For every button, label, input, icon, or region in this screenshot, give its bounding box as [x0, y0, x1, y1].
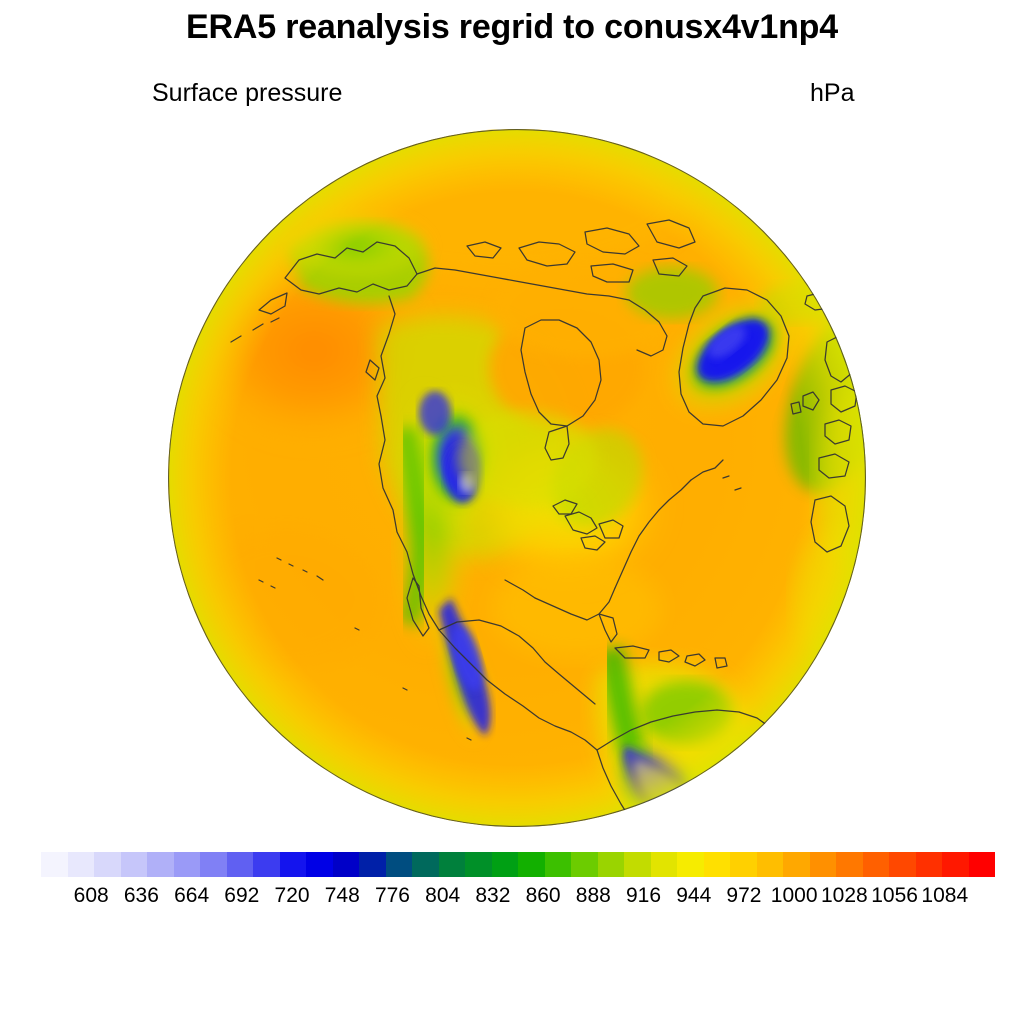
colorbar-segment: [174, 852, 201, 877]
colorbar-tick-label: 636: [124, 884, 159, 908]
colorbar-tick-label: 944: [676, 884, 711, 908]
colorbar-segment: [624, 852, 651, 877]
colorbar-segment: [836, 852, 863, 877]
colorbar-segment: [518, 852, 545, 877]
colorbar[interactable]: [41, 852, 995, 877]
colorbar-segment: [571, 852, 598, 877]
globe-map: [167, 128, 867, 828]
colorbar-tick-label: 692: [224, 884, 259, 908]
orthographic-globe-svg: [167, 128, 867, 828]
colorbar-tick-label: 748: [325, 884, 360, 908]
colorbar-tick-label: 1056: [871, 884, 918, 908]
variable-label: Surface pressure: [152, 79, 342, 108]
colorbar-tick-label: 1000: [771, 884, 818, 908]
colorbar-segment: [41, 852, 68, 877]
colorbar-tick-label: 916: [626, 884, 661, 908]
colorbar-segment: [306, 852, 333, 877]
colorbar-segment: [147, 852, 174, 877]
colorbar-segment: [545, 852, 572, 877]
colorbar-tick-label: 860: [526, 884, 561, 908]
colorbar-tick-label: 972: [726, 884, 761, 908]
colorbar-segment: [280, 852, 307, 877]
colorbar-segment: [492, 852, 519, 877]
colorbar-segment: [94, 852, 121, 877]
globe-field: [167, 128, 867, 828]
colorbar-segment: [200, 852, 227, 877]
colorbar-tick-label: 804: [425, 884, 460, 908]
colorbar-segment: [969, 852, 996, 877]
colorbar-segment: [863, 852, 890, 877]
colorbar-tick-label: 1028: [821, 884, 868, 908]
colorbar-segment: [651, 852, 678, 877]
colorbar-tick-label: 720: [275, 884, 310, 908]
limb-gradient: [168, 129, 866, 827]
colorbar-segment: [889, 852, 916, 877]
colorbar-segment: [121, 852, 148, 877]
colorbar-segment: [598, 852, 625, 877]
colorbar-tick-labels: 6086366646927207487768048328608889169449…: [0, 884, 1024, 910]
colorbar-tick-label: 776: [375, 884, 410, 908]
colorbar-tick-label: 1084: [921, 884, 968, 908]
colorbar-segment: [810, 852, 837, 877]
colorbar-segment: [412, 852, 439, 877]
colorbar-tick-label: 664: [174, 884, 209, 908]
colorbar-segment: [916, 852, 943, 877]
colorbar-tick-label: 832: [475, 884, 510, 908]
colorbar-tick-label: 888: [576, 884, 611, 908]
colorbar-segment: [439, 852, 466, 877]
colorbar-segment: [68, 852, 95, 877]
colorbar-segment: [386, 852, 413, 877]
colorbar-segment: [704, 852, 731, 877]
colorbar-segment: [730, 852, 757, 877]
colorbar-segment: [253, 852, 280, 877]
colorbar-segment: [757, 852, 784, 877]
colorbar-segment: [677, 852, 704, 877]
colorbar-segment: [465, 852, 492, 877]
units-label: hPa: [810, 79, 854, 108]
page-title: ERA5 reanalysis regrid to conusx4v1np4: [0, 8, 1024, 47]
colorbar-segment: [227, 852, 254, 877]
colorbar-segment: [783, 852, 810, 877]
visualization-page: ERA5 reanalysis regrid to conusx4v1np4 S…: [0, 0, 1024, 1024]
colorbar-segment: [942, 852, 969, 877]
colorbar-segment: [333, 852, 360, 877]
colorbar-tick-label: 608: [74, 884, 109, 908]
colorbar-segment: [359, 852, 386, 877]
